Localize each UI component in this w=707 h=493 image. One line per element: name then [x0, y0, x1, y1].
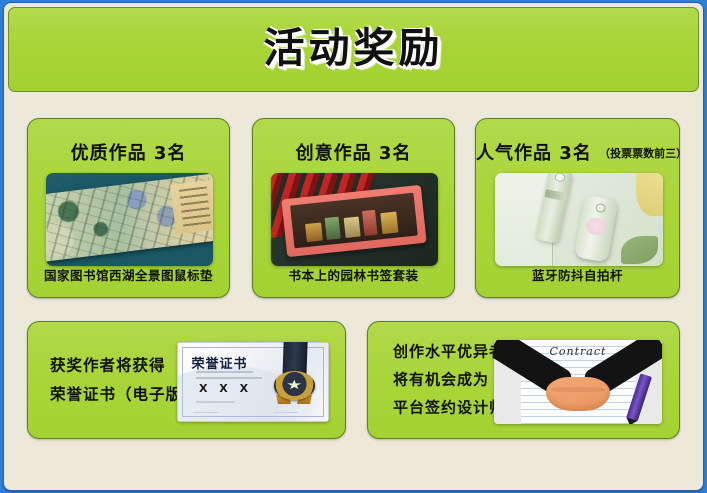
bookmark-item: [344, 217, 361, 238]
bonus-card-certificate[interactable]: 获奖作者将获得 荣誉证书（电子版） 荣誉证书 X X X: [27, 321, 346, 439]
mousepad-calligraphy-strip: [170, 180, 213, 235]
bonus-card-line: 平台签约设计师: [393, 394, 505, 422]
handshake-contract-photo: Contract: [494, 340, 662, 424]
handshake-hands-icon: [546, 377, 610, 411]
remote-lanyard-hole: [595, 203, 606, 214]
honor-certificate-photo: 荣誉证书 X X X: [177, 342, 329, 422]
prize-card-caption: 书本上的园林书签套装: [253, 265, 454, 284]
bookmark-item: [324, 216, 341, 240]
bonus-card-designer[interactable]: 创作水平优异者 将有机会成为 平台签约设计师 Contract: [367, 321, 680, 439]
bookmark-item: [362, 210, 378, 236]
certificate-date-line: [273, 412, 299, 413]
prize-card-title: 创意作品 3名: [253, 139, 454, 165]
prize-card-title-text: 优质作品 3名: [71, 143, 187, 164]
prize-card-subtitle: （投票票数前三）: [599, 147, 687, 160]
certificate-signature-line: [193, 412, 219, 413]
bonus-card-text: 创作水平优异者 将有机会成为 平台签约设计师: [393, 338, 505, 421]
certificate-recipient-name: X X X: [199, 382, 252, 395]
certificate-text-line: [196, 371, 253, 373]
remote-shutter-button: [585, 217, 606, 236]
prize-card-caption: 国家图书馆西湖全景图鼠标垫: [28, 265, 229, 284]
prize-card-popular[interactable]: 人气作品 3名 （投票票数前三） 蓝牙防抖自拍杆: [475, 118, 680, 298]
mousepad-photo: [46, 173, 213, 266]
page-title: 活动奖励: [264, 28, 444, 72]
prize-card-creative[interactable]: 创意作品 3名 书本上的园林书签套装: [252, 118, 455, 298]
rod-button: [555, 173, 565, 181]
header-banner: 活动奖励: [8, 7, 699, 92]
bluetooth-remote: [574, 195, 618, 263]
bookmark-item: [305, 222, 323, 242]
bookmark-item: [381, 211, 399, 234]
prize-card-title: 优质作品 3名: [28, 139, 229, 165]
certificate-graphic: 荣誉证书 X X X: [177, 342, 329, 422]
certificate-text-line: [196, 401, 235, 403]
yellow-corner-accent: [636, 173, 663, 216]
prize-card-title: 人气作品 3名 （投票票数前三）: [476, 139, 679, 165]
bonus-card-line: 创作水平优异者: [393, 338, 505, 366]
contract-label: Contract: [550, 345, 607, 358]
bookmark-box-photo: [271, 173, 438, 266]
gift-box-interior: [291, 193, 418, 248]
prize-card-caption: 蓝牙防抖自拍杆: [476, 265, 679, 284]
prize-card-title-text: 创意作品 3名: [296, 143, 412, 164]
bonus-card-line: 将有机会成为: [393, 366, 505, 394]
certificate-title: 荣誉证书: [192, 353, 248, 372]
certificate-medal-icon: [274, 371, 315, 400]
certificate-text-line: [196, 377, 262, 379]
prize-card-title-text: 人气作品 3名: [476, 143, 592, 164]
leaf-decoration: [621, 236, 658, 264]
handshake-graphic: Contract: [494, 340, 662, 424]
activity-rewards-poster: 活动奖励 优质作品 3名 国家图书馆西湖全景图鼠标垫 创意作品 3名: [4, 3, 703, 490]
prize-card-quality[interactable]: 优质作品 3名 国家图书馆西湖全景图鼠标垫: [27, 118, 230, 298]
selfie-stick-photo: [495, 173, 663, 266]
